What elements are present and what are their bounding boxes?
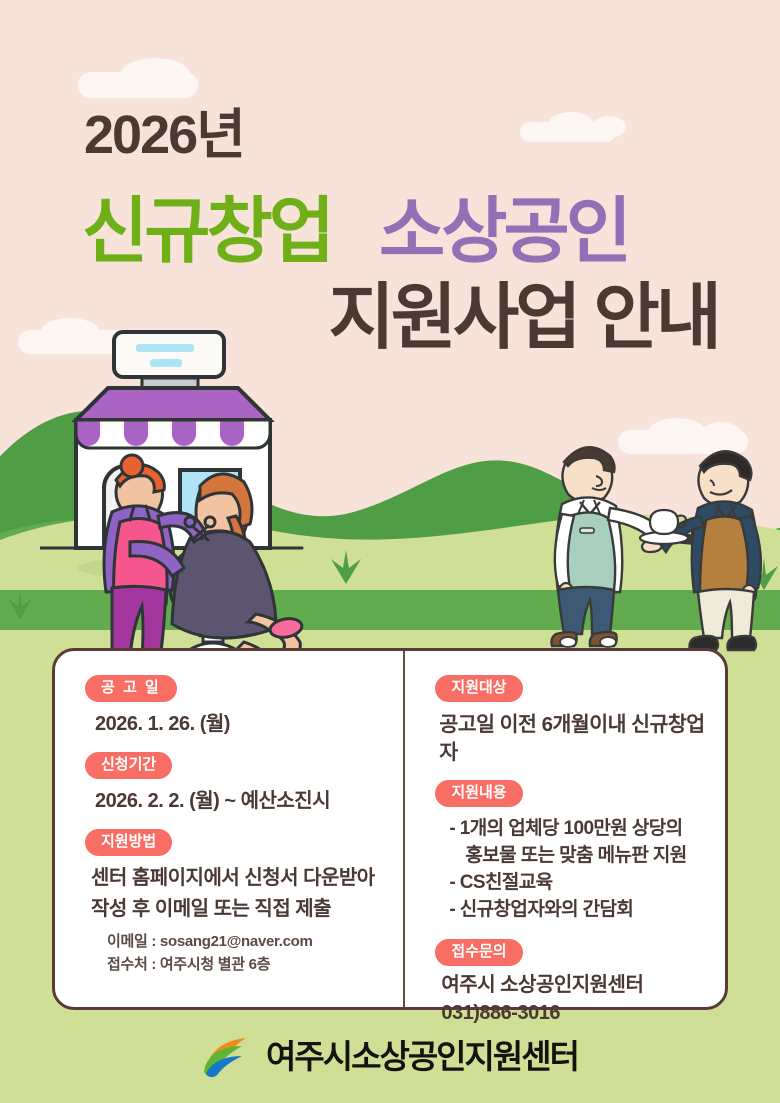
title-green-text: 신규창업	[82, 192, 331, 272]
support-content-item: - CS친절교육	[449, 870, 705, 897]
hair-salon-illustration	[40, 330, 360, 670]
card-left-column: 공 고 일 2026. 1. 26. (월) 신청기간 2026. 2. 2. …	[55, 651, 403, 1007]
title-purple-text: 소상공인	[379, 192, 628, 272]
poster-title-line1: 신규창업 소상공인	[82, 196, 628, 268]
poster-title-line2: 지원사업 안내	[329, 282, 718, 354]
baristas-illustration	[540, 432, 770, 658]
grass-tuft-icon	[0, 588, 40, 620]
contact-organization: 여주시 소상공인지원센터	[441, 972, 705, 999]
footer-logo: 여주시소상공인지원센터	[202, 1036, 578, 1078]
footer-organization-name: 여주시소상공인지원센터	[266, 1040, 578, 1073]
application-method-label: 지원방법	[85, 829, 172, 856]
information-card: 공 고 일 2026. 1. 26. (월) 신청기간 2026. 2. 2. …	[52, 648, 728, 1010]
support-content-label: 지원내용	[435, 780, 522, 807]
office-line: 접수처 : 여주시청 별관 6층	[107, 954, 383, 976]
application-method-line2: 작성 후 이메일 또는 직접 제출	[91, 896, 383, 923]
cloud-icon	[592, 116, 626, 138]
email-line: 이메일 : sosang21@naver.com	[107, 931, 383, 953]
application-method-line1: 센터 홈페이지에서 신청서 다운받아	[91, 865, 383, 892]
application-period-value: 2026. 2. 2. (월) ~ 예산소진시	[95, 788, 383, 815]
support-content-item: - 신규창업자와의 간담회	[449, 897, 705, 924]
support-content-list: - 1개의 업체당 100만원 상당의 홍보물 또는 맞춤 메뉴판 지원 - C…	[449, 816, 705, 924]
footer-bar: 여주시소상공인지원센터	[0, 1010, 780, 1103]
support-content-item: - 1개의 업체당 100만원 상당의	[449, 816, 705, 843]
notice-date-value: 2026. 1. 26. (월)	[95, 711, 383, 738]
cloud-icon	[120, 58, 190, 92]
support-target-value: 공고일 이전 6개월이내 신규창업자	[439, 711, 705, 766]
cloud-icon	[548, 112, 594, 138]
notice-date-label: 공 고 일	[85, 675, 177, 702]
contact-label: 접수문의	[435, 939, 522, 966]
support-target-label: 지원대상	[435, 675, 522, 702]
support-content-item: 홍보물 또는 맞춤 메뉴판 지원	[465, 843, 705, 870]
card-right-column: 지원대상 공고일 이전 6개월이내 신규창업자 지원내용 - 1개의 업체당 1…	[403, 651, 725, 1007]
application-period-label: 신청기간	[85, 752, 172, 779]
swoosh-logo-icon	[202, 1036, 254, 1078]
poster-year: 2026년	[84, 108, 244, 162]
poster-root: 2026년 신규창업 소상공인 지원사업 안내	[0, 0, 780, 1103]
